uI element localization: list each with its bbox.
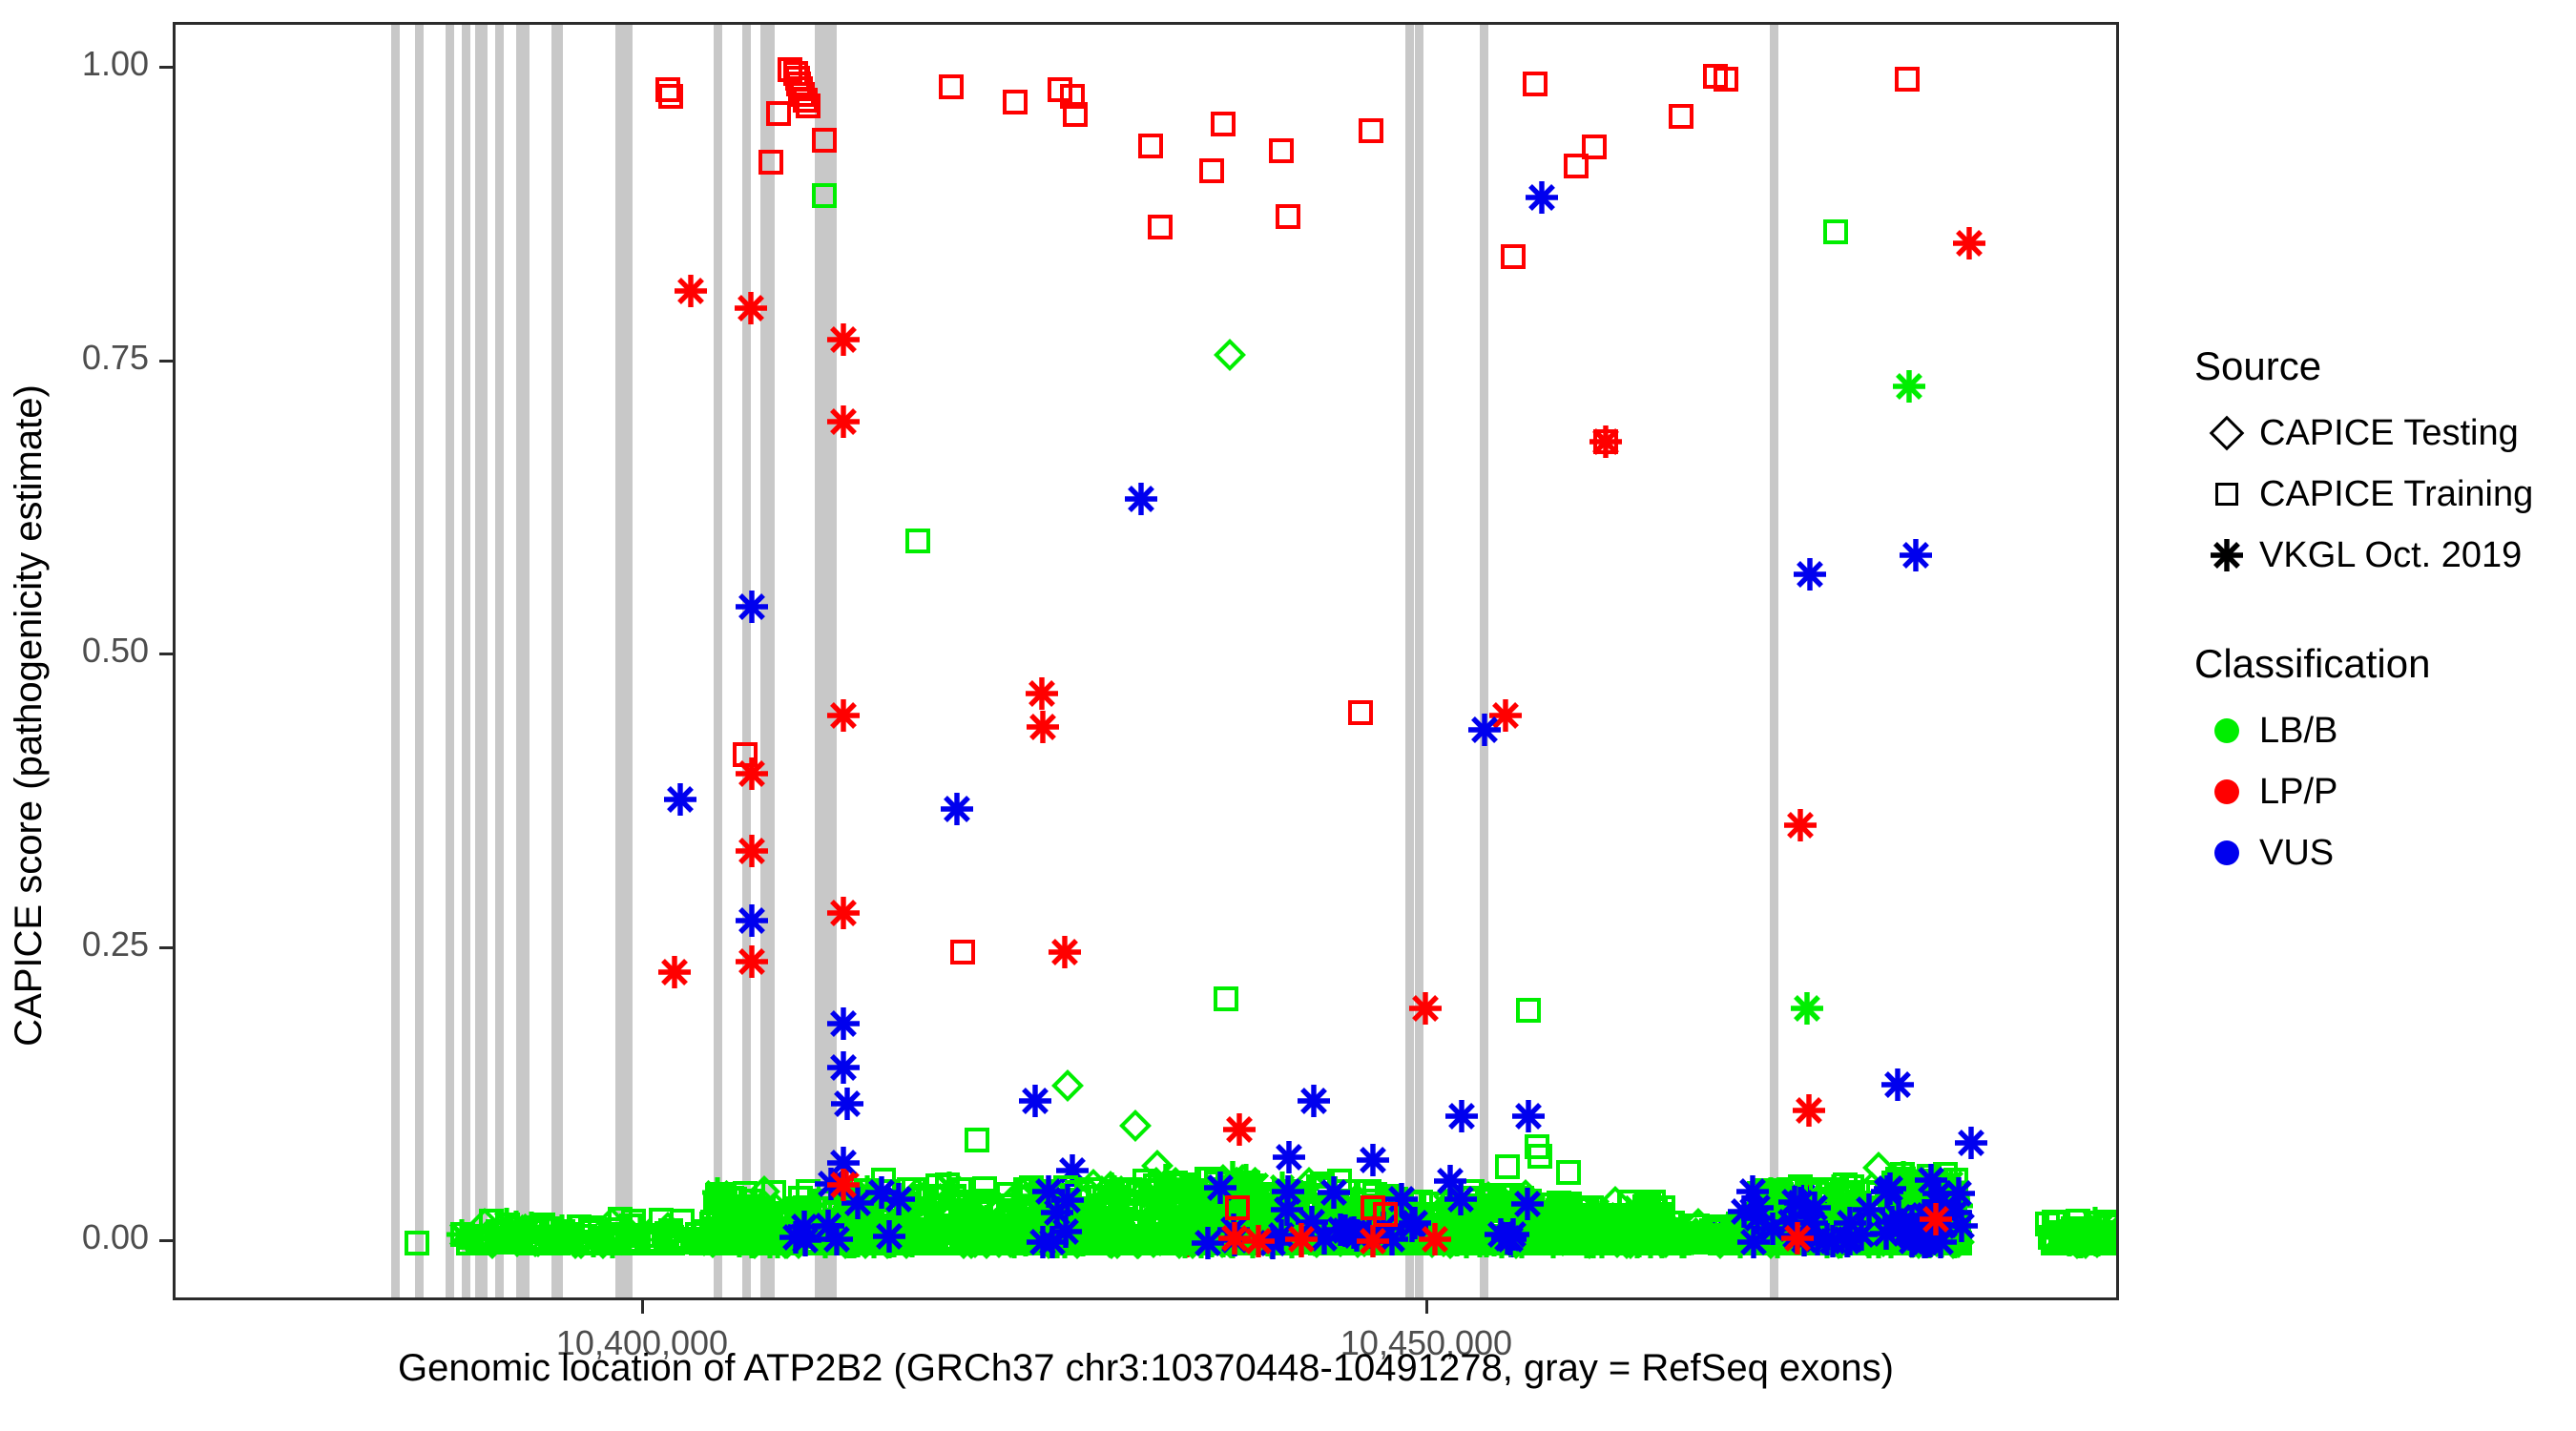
refseq-exon-marker xyxy=(521,25,530,1297)
data-point-square xyxy=(2081,1231,2106,1255)
data-point-star xyxy=(1571,1228,1602,1258)
data-point-square xyxy=(1191,1208,1215,1233)
data-point-diamond xyxy=(1740,1185,1773,1217)
data-point-square xyxy=(1231,1227,1256,1252)
data-point-square xyxy=(1456,1205,1481,1230)
data-point-square xyxy=(1828,1218,1853,1243)
refseq-exon-marker xyxy=(828,25,837,1297)
data-point-star xyxy=(1908,1226,1941,1258)
data-point-diamond xyxy=(1434,1227,1466,1259)
data-point-square xyxy=(858,1207,883,1232)
data-point-star xyxy=(1434,1165,1466,1197)
legend-item-label: LP/P xyxy=(2259,772,2337,813)
data-point-square xyxy=(559,1227,584,1252)
data-point-diamond xyxy=(1797,1213,1829,1246)
data-point-square xyxy=(1533,1231,1558,1255)
data-point-diamond xyxy=(1197,1219,1230,1252)
data-point-square xyxy=(1661,1225,1686,1250)
data-point-square xyxy=(2052,1224,2077,1249)
data-point-square xyxy=(1783,1177,1808,1202)
data-point-star xyxy=(1779,1221,1810,1252)
data-point-star xyxy=(1788,1224,1820,1256)
data-point-diamond xyxy=(1610,1227,1643,1259)
data-point-square xyxy=(922,1230,946,1255)
data-point-square xyxy=(1506,1191,1531,1215)
data-point-square xyxy=(1861,1229,1886,1254)
data-point-square xyxy=(1014,1200,1039,1225)
data-point-square xyxy=(664,1229,689,1254)
data-point-square xyxy=(983,1217,1008,1242)
data-point-square xyxy=(977,1224,1002,1249)
data-point-square xyxy=(1027,1231,1051,1255)
data-point-square xyxy=(790,82,815,107)
data-point-square xyxy=(1148,1201,1173,1226)
data-point-square xyxy=(1880,1221,1905,1246)
data-point-square xyxy=(1873,1213,1898,1238)
data-point-square xyxy=(1891,1188,1916,1213)
data-point-square xyxy=(1878,1231,1902,1255)
data-point-star xyxy=(1527,1192,1558,1223)
data-point-square xyxy=(887,1224,912,1249)
data-point-square xyxy=(1793,1192,1818,1216)
data-point-square xyxy=(1372,1230,1397,1255)
data-point-star xyxy=(842,1227,873,1257)
data-point-square xyxy=(1060,84,1085,109)
data-point-square xyxy=(1893,1225,1918,1250)
data-point-star xyxy=(1837,1204,1867,1234)
data-point-square xyxy=(1604,1207,1629,1232)
data-point-square xyxy=(856,1215,881,1240)
data-point-square xyxy=(1451,1213,1476,1237)
data-point-square xyxy=(1034,1184,1059,1209)
data-point-diamond xyxy=(1827,1183,1859,1215)
data-point-square xyxy=(1547,1191,1571,1215)
data-point-square xyxy=(790,1230,815,1255)
data-point-square xyxy=(1347,1230,1372,1255)
data-point-square xyxy=(1076,1230,1101,1255)
data-point-square xyxy=(1242,1213,1267,1237)
data-point-square xyxy=(2057,1223,2082,1248)
data-point-square xyxy=(1506,1224,1530,1249)
data-point-star xyxy=(1817,1225,1849,1257)
data-point-square xyxy=(1928,1201,1953,1226)
data-point-square xyxy=(1879,1185,1903,1210)
data-point-diamond xyxy=(1051,1069,1084,1102)
legend-item-lb-b[interactable]: LB/B xyxy=(2194,700,2576,761)
data-point-square xyxy=(1383,1187,1408,1212)
data-point-square xyxy=(1006,1216,1030,1241)
data-point-square xyxy=(1340,1191,1365,1215)
data-point-square xyxy=(1862,1230,1887,1255)
data-point-star xyxy=(1216,1161,1249,1193)
data-point-star xyxy=(1257,1227,1289,1259)
data-point-square xyxy=(1341,1230,1366,1255)
data-point-square xyxy=(1371,1228,1396,1253)
legend-title-classification: Classification xyxy=(2194,641,2576,687)
data-point-square xyxy=(991,1231,1016,1255)
data-point-square xyxy=(778,57,802,82)
data-point-square xyxy=(2084,1211,2109,1235)
data-point-square xyxy=(2100,1231,2119,1255)
data-point-square xyxy=(2091,1221,2116,1246)
legend-item-lp-p[interactable]: LP/P xyxy=(2194,761,2576,822)
data-point-square xyxy=(1091,1193,1116,1218)
data-point-square xyxy=(1329,1231,1354,1255)
data-point-square xyxy=(1617,1190,1642,1214)
data-point-square xyxy=(869,1230,894,1255)
data-point-square xyxy=(1317,1230,1341,1255)
data-point-diamond xyxy=(559,1227,592,1259)
data-point-square xyxy=(1046,1219,1070,1244)
data-point-square xyxy=(1196,1216,1221,1241)
data-point-square xyxy=(1587,1207,1611,1232)
data-point-square xyxy=(1728,1231,1753,1255)
data-point-star xyxy=(1779,1219,1812,1252)
data-point-square xyxy=(1421,1226,1445,1251)
data-point-square xyxy=(777,1220,801,1245)
data-point-square xyxy=(1558,1213,1583,1237)
data-point-square xyxy=(1116,1217,1141,1242)
data-point-square xyxy=(1195,1212,1219,1236)
data-point-square xyxy=(1541,1226,1566,1251)
data-point-square xyxy=(1350,1215,1375,1240)
blue-dot-icon xyxy=(2194,840,2259,865)
data-point-square xyxy=(953,1225,978,1250)
data-point-square xyxy=(968,1189,993,1213)
data-point-square xyxy=(2048,1226,2073,1251)
data-point-diamond xyxy=(1842,1206,1875,1238)
data-point-square xyxy=(1882,1195,1907,1220)
data-point-diamond xyxy=(1474,1204,1506,1236)
data-point-square xyxy=(2042,1210,2067,1234)
data-point-square xyxy=(1865,1191,1890,1215)
data-point-square xyxy=(888,1198,913,1223)
data-point-square xyxy=(670,1209,695,1234)
data-point-square xyxy=(1037,1231,1062,1255)
data-point-square xyxy=(1919,1229,1943,1254)
data-point-diamond xyxy=(957,1218,989,1251)
data-point-square xyxy=(1917,1178,1942,1203)
data-point-star xyxy=(1438,1193,1468,1224)
data-point-square xyxy=(1183,1223,1208,1248)
data-point-diamond xyxy=(1348,1216,1381,1249)
data-point-diamond xyxy=(2081,1226,2113,1258)
data-point-square xyxy=(1690,1221,1714,1246)
data-point-star xyxy=(1095,1172,1128,1205)
data-point-star xyxy=(1897,1221,1929,1254)
data-point-square xyxy=(1878,1195,1902,1220)
data-point-diamond xyxy=(1193,1174,1225,1207)
data-point-square xyxy=(976,1192,1001,1217)
data-point-square xyxy=(1086,1212,1111,1236)
data-point-square xyxy=(1292,1187,1317,1212)
data-point-square xyxy=(1854,1180,1879,1205)
data-point-square xyxy=(1797,1181,1822,1206)
data-point-square xyxy=(853,1217,878,1242)
data-point-square xyxy=(784,1213,809,1238)
data-point-square xyxy=(1315,1209,1340,1234)
data-point-square xyxy=(1192,1179,1216,1204)
refseq-exon-marker xyxy=(415,25,424,1297)
data-point-star xyxy=(1876,1228,1906,1258)
data-point-square xyxy=(955,1218,980,1243)
data-point-square xyxy=(1637,1202,1662,1227)
data-point-star xyxy=(1608,1217,1638,1248)
data-point-square xyxy=(1532,1227,1557,1252)
data-point-square xyxy=(1206,1186,1231,1211)
data-point-square xyxy=(1120,1213,1145,1237)
data-point-star xyxy=(852,1175,883,1206)
data-point-star xyxy=(1778,1204,1809,1234)
data-point-square xyxy=(976,1224,1001,1249)
data-point-square xyxy=(1907,1206,1932,1231)
data-point-square xyxy=(1116,1225,1141,1250)
data-point-square xyxy=(1524,1216,1548,1241)
data-point-star xyxy=(1863,1228,1894,1258)
data-point-star xyxy=(1592,1223,1623,1254)
data-point-square xyxy=(1008,1224,1033,1249)
data-point-square xyxy=(1654,1230,1679,1255)
data-point-square xyxy=(654,1230,678,1255)
data-point-square xyxy=(1013,1177,1038,1202)
data-point-square xyxy=(1882,1230,1907,1255)
data-point-square xyxy=(1593,429,1618,454)
data-point-star xyxy=(1942,1177,1975,1210)
data-point-square xyxy=(1923,1229,1948,1254)
data-point-star xyxy=(1651,1225,1681,1255)
data-point-star xyxy=(982,1225,1012,1255)
data-point-star xyxy=(1786,1180,1818,1213)
data-point-square xyxy=(1664,1221,1689,1246)
data-point-square xyxy=(896,1229,921,1254)
data-point-square xyxy=(1329,1189,1354,1213)
data-point-square xyxy=(969,1212,994,1236)
data-point-square xyxy=(1780,1215,1805,1240)
data-point-diamond xyxy=(1528,1217,1561,1250)
data-point-square xyxy=(1272,1179,1297,1204)
data-point-square xyxy=(2041,1231,2066,1255)
data-point-square xyxy=(1330,1231,1355,1255)
data-point-square xyxy=(1513,1228,1538,1253)
data-point-square xyxy=(1054,1220,1079,1245)
data-point-square xyxy=(1807,1197,1832,1222)
data-point-square xyxy=(1270,1213,1295,1237)
data-point-square xyxy=(1195,1167,1219,1192)
data-point-star xyxy=(1793,1094,1825,1127)
data-point-diamond xyxy=(1693,1219,1725,1252)
data-point-square xyxy=(980,1222,1005,1247)
data-point-square xyxy=(925,1220,950,1245)
data-point-square xyxy=(1615,1227,1640,1252)
data-point-square xyxy=(641,1229,666,1254)
data-point-square xyxy=(1870,1195,1895,1220)
data-point-square xyxy=(955,1231,980,1255)
data-point-square xyxy=(1519,1228,1544,1253)
data-point-square xyxy=(1837,1223,1861,1248)
data-point-diamond xyxy=(901,1177,933,1210)
data-point-square xyxy=(886,1209,911,1234)
data-point-diamond xyxy=(1877,1196,1909,1229)
data-point-square xyxy=(1884,1229,1909,1254)
data-point-star xyxy=(1601,1209,1631,1239)
data-point-square xyxy=(2085,1231,2109,1255)
data-point-diamond xyxy=(1509,1179,1542,1212)
legend-item-vus[interactable]: VUS xyxy=(2194,822,2576,883)
data-point-star xyxy=(1784,1187,1817,1219)
data-point-square xyxy=(2101,1231,2119,1255)
data-point-square xyxy=(1907,1229,1932,1254)
data-point-square xyxy=(1290,1230,1315,1255)
data-point-square xyxy=(690,1227,715,1252)
data-point-star xyxy=(1887,1199,1918,1230)
data-point-square xyxy=(848,1217,873,1242)
data-point-star xyxy=(1195,1215,1226,1246)
data-point-square xyxy=(1534,1230,1559,1255)
data-point-square xyxy=(872,1230,897,1255)
data-point-square xyxy=(1441,1196,1465,1221)
data-point-square xyxy=(1826,1228,1851,1253)
legend-item-capice-testing[interactable]: CAPICE Testing xyxy=(2194,403,2576,464)
data-point-square xyxy=(2100,1224,2119,1249)
data-point-square xyxy=(983,1229,1008,1254)
data-point-star xyxy=(1511,1188,1544,1220)
data-point-square xyxy=(1606,1216,1631,1241)
data-point-square xyxy=(1557,1229,1582,1254)
data-point-star xyxy=(1928,1209,1961,1241)
data-point-square xyxy=(1941,1208,1965,1233)
data-point-star xyxy=(1635,1228,1666,1258)
data-point-square xyxy=(1630,1202,1654,1227)
data-point-square xyxy=(576,1231,601,1255)
data-point-star xyxy=(894,1226,924,1256)
data-point-square xyxy=(872,1213,897,1238)
data-point-square xyxy=(1501,244,1526,269)
data-point-diamond xyxy=(1324,1225,1357,1257)
data-point-diamond xyxy=(1573,1227,1606,1259)
data-point-square xyxy=(1886,1195,1911,1220)
data-point-square xyxy=(659,1225,684,1250)
data-point-square xyxy=(1351,1231,1376,1255)
data-point-star xyxy=(1491,1222,1524,1255)
data-point-square xyxy=(1255,1192,1279,1217)
data-point-star xyxy=(1940,1196,1972,1229)
data-point-square xyxy=(1634,1231,1659,1255)
data-point-square xyxy=(1370,1220,1395,1245)
legend-item-capice-training[interactable]: CAPICE Training xyxy=(2194,464,2576,525)
data-point-square xyxy=(1428,1222,1453,1247)
data-point-square xyxy=(911,1224,936,1249)
data-point-star xyxy=(1798,1192,1831,1224)
data-point-square xyxy=(1928,1231,1953,1255)
data-point-square xyxy=(1257,1186,1282,1211)
data-point-star xyxy=(1589,425,1622,458)
data-point-square xyxy=(1329,1230,1354,1255)
data-point-square xyxy=(775,1231,800,1255)
data-point-star xyxy=(1942,1191,1973,1221)
data-point-square xyxy=(1274,1210,1298,1234)
data-point-diamond xyxy=(1095,1227,1128,1259)
legend-item-label: LB/B xyxy=(2259,711,2337,752)
data-point-square xyxy=(2064,1227,2088,1252)
data-point-square xyxy=(1609,1225,1633,1250)
data-point-square xyxy=(660,1231,685,1255)
data-point-square xyxy=(1036,1188,1061,1213)
refseq-exon-marker xyxy=(391,25,400,1297)
data-point-square xyxy=(1499,1222,1524,1247)
data-point-square xyxy=(2067,1219,2092,1244)
data-point-square xyxy=(1061,1204,1086,1229)
data-point-square xyxy=(1902,1226,1927,1251)
data-point-square xyxy=(1866,1181,1891,1206)
data-point-square xyxy=(895,1211,920,1235)
data-point-square xyxy=(1173,1225,1197,1250)
data-point-square xyxy=(1548,1205,1572,1230)
data-point-square xyxy=(1236,1230,1260,1255)
data-point-star xyxy=(845,1182,876,1213)
data-point-star xyxy=(1098,1209,1129,1239)
data-point-star xyxy=(1338,1218,1368,1249)
data-point-square xyxy=(1653,1228,1678,1253)
data-point-square xyxy=(1894,1172,1919,1196)
refseq-exon-marker xyxy=(446,25,454,1297)
data-point-square xyxy=(1861,1180,1886,1205)
data-point-square xyxy=(1427,1207,1452,1232)
data-point-square xyxy=(772,1230,797,1255)
data-point-square xyxy=(2046,1211,2070,1235)
data-point-square xyxy=(1148,1172,1173,1197)
y-tick-mark xyxy=(159,653,173,655)
data-point-square xyxy=(1881,1171,1906,1195)
data-point-square xyxy=(1333,1218,1358,1243)
data-point-star xyxy=(1123,1225,1153,1255)
data-point-square xyxy=(945,1231,969,1255)
data-point-square xyxy=(996,1193,1021,1218)
data-point-square xyxy=(863,1230,888,1255)
data-point-star xyxy=(1784,1218,1815,1249)
data-point-square xyxy=(848,1228,873,1253)
data-point-square xyxy=(1081,1231,1106,1255)
data-point-square xyxy=(1620,1221,1645,1246)
data-point-square xyxy=(1282,1185,1307,1210)
data-point-star xyxy=(1812,1228,1842,1258)
legend: SourceCAPICE TestingCAPICE TrainingVKGL … xyxy=(2194,343,2576,883)
data-point-square xyxy=(1274,1194,1298,1219)
data-point-diamond xyxy=(1614,1227,1647,1259)
data-point-square xyxy=(1040,1183,1065,1208)
data-point-diamond xyxy=(1899,1196,1931,1229)
data-point-star xyxy=(1792,1219,1822,1250)
data-point-star xyxy=(1775,1206,1807,1238)
data-point-square xyxy=(1220,1207,1245,1232)
data-point-diamond xyxy=(1061,1227,1093,1259)
data-point-square xyxy=(886,1231,911,1255)
data-point-diamond xyxy=(1093,1226,1126,1258)
data-point-square xyxy=(840,1205,864,1230)
data-point-square xyxy=(1586,1206,1610,1231)
data-point-square xyxy=(1586,1229,1610,1254)
data-point-star xyxy=(1186,1228,1216,1258)
data-point-square xyxy=(1506,1214,1531,1239)
data-point-square xyxy=(1928,1218,1953,1243)
data-point-star xyxy=(1253,1226,1283,1256)
data-point-square xyxy=(1025,1210,1049,1234)
data-point-square xyxy=(1378,1195,1402,1220)
data-point-star xyxy=(1578,1228,1609,1258)
data-point-diamond xyxy=(1864,1195,1897,1228)
legend-item-vkgl-oct-2019[interactable]: VKGL Oct. 2019 xyxy=(2194,525,2576,586)
data-point-square xyxy=(1162,1186,1187,1211)
data-point-square xyxy=(1542,1227,1567,1252)
